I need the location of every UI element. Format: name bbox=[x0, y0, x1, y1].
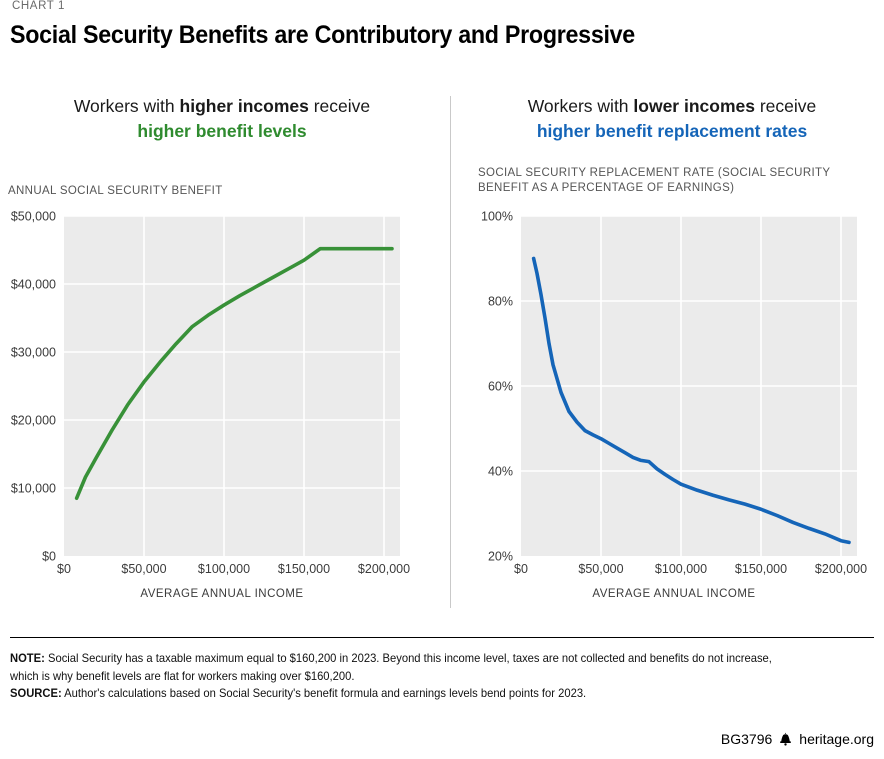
svg-text:$200,000: $200,000 bbox=[358, 562, 410, 576]
left-plot-background bbox=[64, 216, 400, 556]
page-title: Social Security Benefits are Contributor… bbox=[10, 21, 635, 50]
svg-text:$0: $0 bbox=[42, 550, 56, 564]
svg-text:$100,000: $100,000 bbox=[198, 562, 250, 576]
chart-kicker: CHART 1 bbox=[12, 0, 65, 12]
notes-block: NOTE: Social Security has a taxable maxi… bbox=[10, 650, 833, 703]
svg-text:$150,000: $150,000 bbox=[735, 562, 787, 576]
svg-text:$30,000: $30,000 bbox=[11, 346, 56, 360]
note-line-2: which is why benefit levels are flat for… bbox=[10, 668, 833, 686]
panels-container: Workers with higher incomes receive high… bbox=[0, 88, 884, 618]
svg-text:$50,000: $50,000 bbox=[11, 210, 56, 224]
panel-divider bbox=[450, 96, 451, 608]
panel-left: Workers with higher incomes receive high… bbox=[2, 88, 442, 618]
right-chart-svg: 20%40%60%80%100% $0$50,000$100,000$150,0… bbox=[452, 88, 884, 588]
svg-text:60%: 60% bbox=[488, 380, 513, 394]
svg-text:$150,000: $150,000 bbox=[278, 562, 330, 576]
footer-divider bbox=[10, 637, 874, 638]
note-line-1: NOTE: Social Security has a taxable maxi… bbox=[10, 650, 833, 668]
svg-text:$200,000: $200,000 bbox=[815, 562, 867, 576]
left-x-axis-title: AVERAGE ANNUAL INCOME bbox=[2, 588, 442, 600]
source-line: SOURCE: Author's calculations based on S… bbox=[10, 685, 833, 703]
right-x-tick-labels: $0$50,000$100,000$150,000$200,000 bbox=[514, 562, 867, 576]
report-id: BG3796 bbox=[721, 731, 772, 747]
svg-text:100%: 100% bbox=[481, 210, 513, 224]
note-text-1: Social Security has a taxable maximum eq… bbox=[45, 651, 772, 665]
source-label: SOURCE: bbox=[10, 686, 62, 700]
source-text: Author's calculations based on Social Se… bbox=[62, 686, 586, 700]
svg-text:$10,000: $10,000 bbox=[11, 482, 56, 496]
svg-text:$50,000: $50,000 bbox=[578, 562, 623, 576]
svg-text:$50,000: $50,000 bbox=[121, 562, 166, 576]
liberty-bell-icon bbox=[779, 732, 792, 746]
left-y-tick-labels: $0$10,000$20,000$30,000$40,000$50,000 bbox=[11, 210, 56, 564]
note-text-2: which is why benefit levels are flat for… bbox=[10, 669, 354, 683]
right-y-tick-labels: 20%40%60%80%100% bbox=[481, 210, 513, 564]
left-x-tick-labels: $0$50,000$100,000$150,000$200,000 bbox=[57, 562, 410, 576]
svg-text:$100,000: $100,000 bbox=[655, 562, 707, 576]
svg-text:$40,000: $40,000 bbox=[11, 278, 56, 292]
svg-text:20%: 20% bbox=[488, 550, 513, 564]
left-plot-area: $0$10,000$20,000$30,000$40,000$50,000 $0… bbox=[2, 88, 442, 618]
site-name: heritage.org bbox=[799, 731, 874, 747]
left-chart-svg: $0$10,000$20,000$30,000$40,000$50,000 $0… bbox=[2, 88, 442, 588]
note-label: NOTE: bbox=[10, 651, 45, 665]
svg-text:40%: 40% bbox=[488, 465, 513, 479]
svg-text:$0: $0 bbox=[57, 562, 71, 576]
panel-right: Workers with lower incomes receive highe… bbox=[452, 88, 884, 618]
right-plot-area: 20%40%60%80%100% $0$50,000$100,000$150,0… bbox=[452, 88, 884, 618]
footer: BG3796 heritage.org bbox=[721, 731, 874, 747]
svg-text:80%: 80% bbox=[488, 295, 513, 309]
chart-page: CHART 1 Social Security Benefits are Con… bbox=[0, 0, 884, 759]
right-x-axis-title: AVERAGE ANNUAL INCOME bbox=[474, 588, 874, 600]
svg-text:$20,000: $20,000 bbox=[11, 414, 56, 428]
svg-text:$0: $0 bbox=[514, 562, 528, 576]
